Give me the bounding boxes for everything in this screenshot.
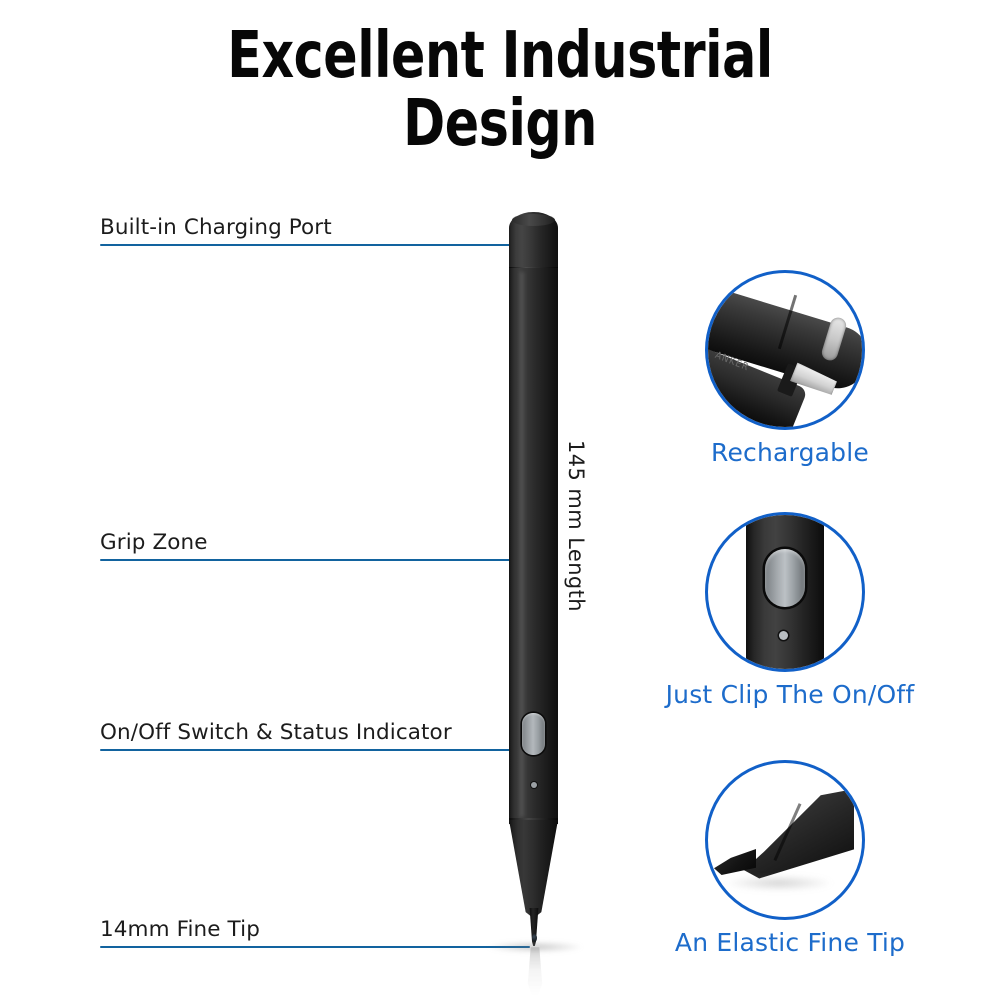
pen-power-button bbox=[522, 713, 545, 755]
length-dimension-label: 145 mm Length bbox=[566, 440, 592, 660]
pen-reflection bbox=[517, 947, 553, 999]
annotation-onoff-switch-leader-line bbox=[100, 749, 522, 752]
annotation-grip-zone: Grip Zone bbox=[100, 529, 520, 561]
annotation-charging-port-leader-line bbox=[100, 244, 518, 247]
annotation-grip-zone-label: Grip Zone bbox=[100, 531, 208, 555]
pen-cap-top-highlight bbox=[512, 214, 555, 226]
annotation-fine-tip: 14mm Fine Tip bbox=[100, 916, 532, 948]
annotation-grip-zone-leader-line bbox=[100, 559, 518, 562]
annotation-charging-port: Built-in Charging Port bbox=[100, 214, 520, 246]
feature-onoff-clip-caption: Just Clip The On/Off bbox=[665, 680, 915, 709]
annotation-onoff-switch: On/Off Switch & Status Indicator bbox=[100, 719, 524, 751]
annotation-fine-tip-leader-line bbox=[100, 946, 530, 949]
status-led-closeup bbox=[779, 631, 788, 640]
feature-fine-tip: An Elastic Fine Tip bbox=[695, 760, 895, 970]
power-button-photo-icon bbox=[705, 512, 865, 672]
length-dimension-text: 145 mm Length bbox=[564, 440, 588, 612]
page-title-line-1: Excellent Industrial bbox=[60, 22, 940, 90]
annotation-fine-tip-label: 14mm Fine Tip bbox=[100, 918, 260, 942]
feature-rechargable: ANKER Rechargable bbox=[695, 270, 895, 480]
pen-tip-shadow bbox=[724, 875, 834, 891]
annotation-charging-port-label: Built-in Charging Port bbox=[100, 216, 332, 240]
charging-port-photo-icon: ANKER bbox=[705, 270, 865, 430]
power-button-closeup bbox=[765, 549, 805, 607]
annotation-onoff-switch-label: On/Off Switch & Status Indicator bbox=[100, 721, 452, 745]
feature-fine-tip-caption: An Elastic Fine Tip bbox=[665, 928, 915, 957]
page-title-line-2: Design bbox=[60, 90, 940, 158]
stylus-pen-illustration bbox=[503, 212, 567, 957]
pen-cone bbox=[509, 820, 558, 916]
feature-onoff-clip: Just Clip The On/Off bbox=[695, 512, 895, 722]
feature-rechargable-caption: Rechargable bbox=[665, 438, 915, 467]
pen-tip-photo-icon bbox=[705, 760, 865, 920]
page-title: Excellent Industrial Design bbox=[0, 22, 1000, 158]
pen-status-led bbox=[531, 782, 537, 788]
